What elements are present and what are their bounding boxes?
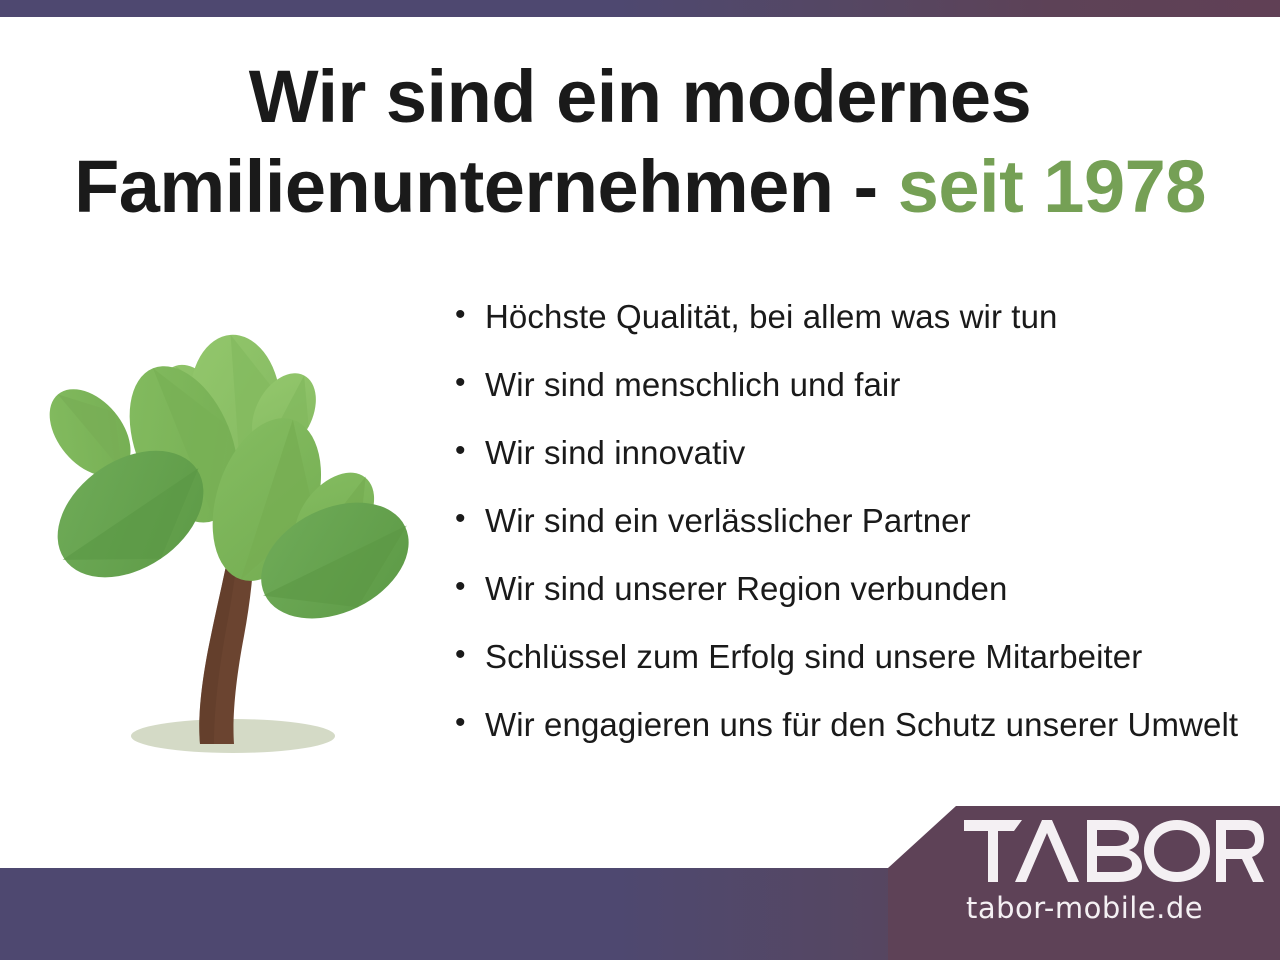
list-item-label: Wir sind ein verlässlicher Partner xyxy=(485,504,971,537)
bullet-marker-icon: • xyxy=(455,368,485,398)
list-item-label: Wir sind unserer Region verbunden xyxy=(485,572,1007,605)
bullet-marker-icon: • xyxy=(455,300,485,330)
list-item: • Wir engagieren uns für den Schutz unse… xyxy=(455,708,1275,776)
value-list: • Höchste Qualität, bei allem was wir tu… xyxy=(455,300,1275,776)
list-item-label: Wir sind innovativ xyxy=(485,436,745,469)
list-item-label: Wir engagieren uns für den Schutz unsere… xyxy=(485,708,1238,741)
list-item-label: Wir sind menschlich und fair xyxy=(485,368,900,401)
bullet-marker-icon: • xyxy=(455,436,485,466)
bullet-marker-icon: • xyxy=(455,572,485,602)
bullet-marker-icon: • xyxy=(455,640,485,670)
brand-tagline: tabor-mobile.de xyxy=(966,894,1266,923)
list-item: • Wir sind ein verlässlicher Partner xyxy=(455,504,1275,572)
bullet-marker-icon: • xyxy=(455,504,485,534)
list-item: • Schlüssel zum Erfolg sind unsere Mitar… xyxy=(455,640,1275,708)
list-item-label: Höchste Qualität, bei allem was wir tun xyxy=(485,300,1057,333)
page-title-line-2: Familienunternehmen - seit 1978 xyxy=(0,142,1280,232)
list-item-label: Schlüssel zum Erfolg sind unsere Mitarbe… xyxy=(485,640,1142,673)
page-title: Wir sind ein modernes Familienunternehme… xyxy=(0,52,1280,232)
tree-illustration xyxy=(28,330,432,762)
list-item: • Wir sind menschlich und fair xyxy=(455,368,1275,436)
slide-canvas: Wir sind ein modernes Familienunternehme… xyxy=(0,0,1280,960)
tabor-wordmark-logo xyxy=(964,820,1264,882)
bullet-marker-icon: • xyxy=(455,708,485,738)
list-item: • Wir sind innovativ xyxy=(455,436,1275,504)
brand-logo-panel[interactable]: tabor-mobile.de xyxy=(888,806,1280,960)
page-title-line-1: Wir sind ein modernes xyxy=(0,52,1280,142)
list-item: • Wir sind unserer Region verbunden xyxy=(455,572,1275,640)
page-title-line-2-prefix: Familienunternehmen - xyxy=(74,145,898,228)
list-item: • Höchste Qualität, bei allem was wir tu… xyxy=(455,300,1275,368)
page-title-accent: seit 1978 xyxy=(898,145,1206,228)
top-brand-bar xyxy=(0,0,1280,17)
